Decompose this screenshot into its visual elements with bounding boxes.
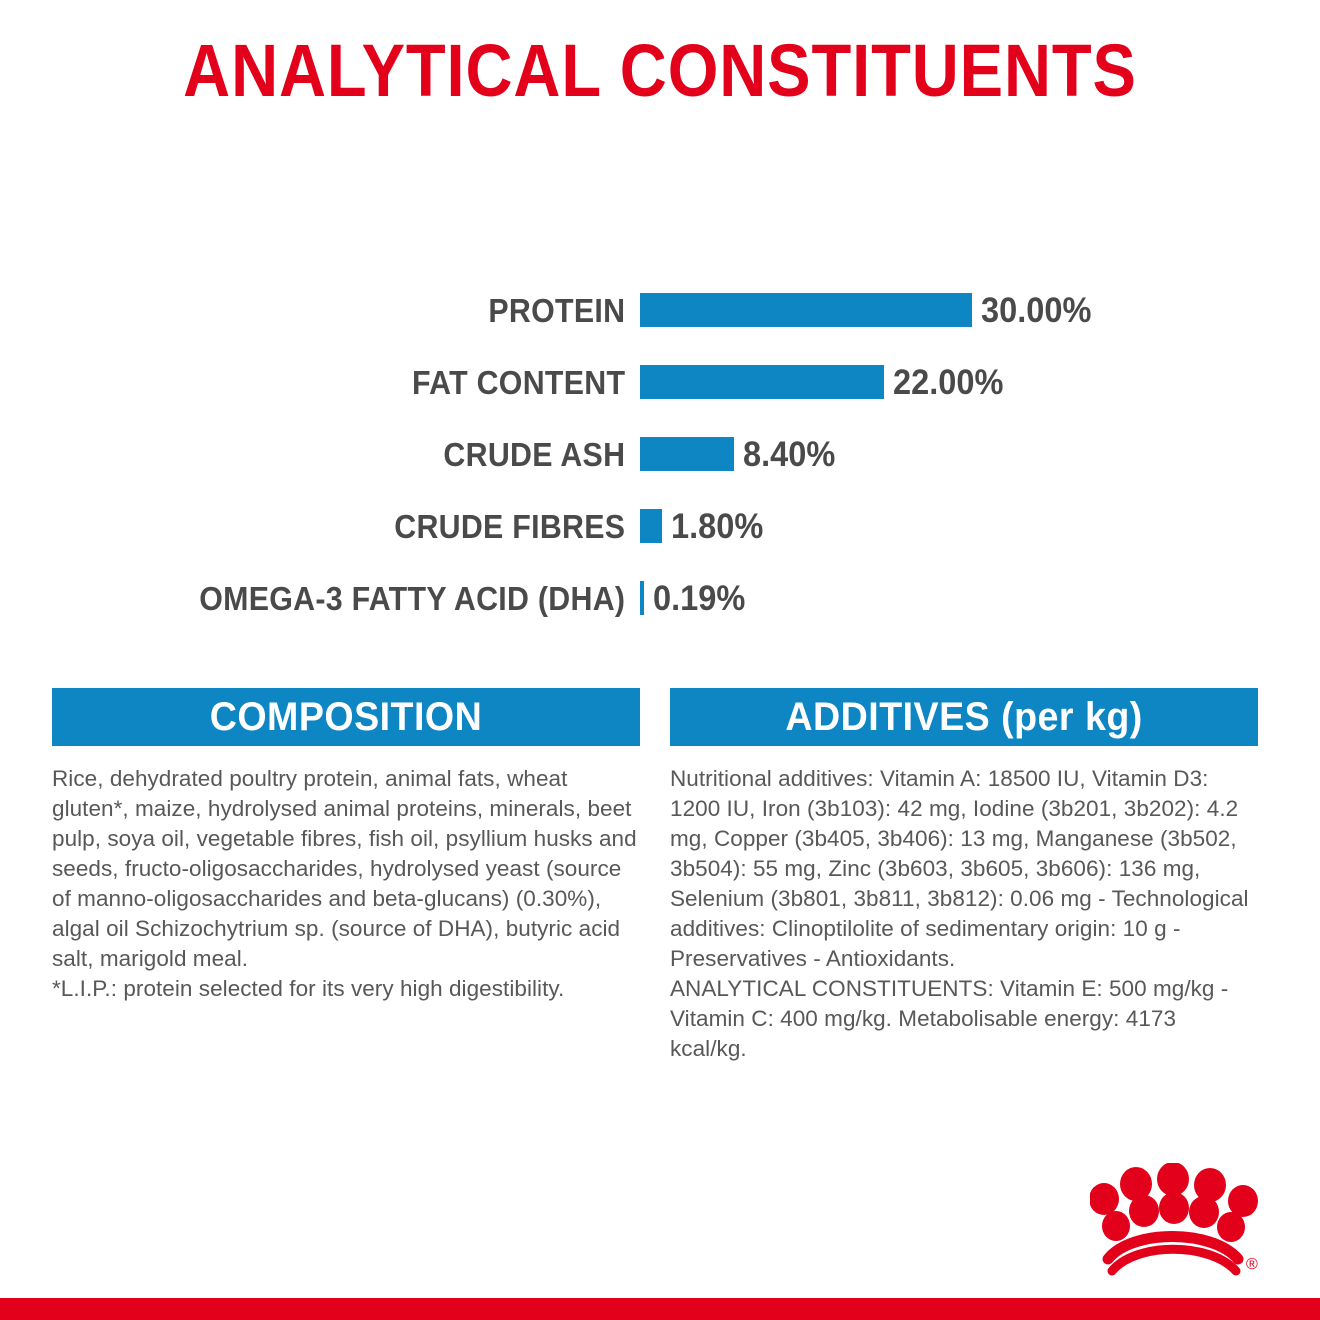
chart-label-omega-3-fatty-acid-dha: OMEGA-3 FATTY ACID (DHA) — [51, 582, 640, 615]
bar-value-protein: 30.00% — [981, 293, 1091, 328]
page-title: ANALYTICAL CONSTITUENTS — [79, 34, 1241, 108]
additives-header: ADDITIVES (per kg) — [670, 688, 1258, 746]
bottom-red-bar — [0, 1298, 1320, 1320]
chart-label-crude-fibres: CRUDE FIBRES — [51, 510, 640, 543]
crown-icon: ® — [1090, 1163, 1270, 1285]
bar-protein — [640, 293, 972, 327]
info-columns: COMPOSITION Rice, dehydrated poultry pro… — [52, 688, 1270, 1064]
bar-wrap-fat-content: 22.00% — [640, 365, 1320, 400]
additives-body: Nutritional additives: Vitamin A: 18500 … — [670, 746, 1258, 1064]
bar-value-crude-fibres: 1.80% — [671, 509, 763, 544]
additives-column: ADDITIVES (per kg) Nutritional additives… — [670, 688, 1258, 1064]
chart-row-fat-content: FAT CONTENT 22.00% — [0, 358, 1320, 406]
crown-arc-inner — [1112, 1249, 1236, 1271]
additives-footnote: ANALYTICAL CONSTITUENTS: Vitamin E: 500 … — [670, 974, 1258, 1064]
composition-body-text: Rice, dehydrated poultry protein, animal… — [52, 764, 640, 974]
bar-wrap-protein: 30.00% — [640, 293, 1320, 328]
bar-value-fat-content: 22.00% — [893, 365, 1003, 400]
chart-row-crude-ash: CRUDE ASH 8.40% — [0, 430, 1320, 478]
chart-label-fat-content: FAT CONTENT — [51, 366, 640, 399]
additives-body-text: Nutritional additives: Vitamin A: 18500 … — [670, 764, 1258, 974]
chart-row-protein: PROTEIN 30.00% — [0, 286, 1320, 334]
chart-row-omega-3-fatty-acid-dha: OMEGA-3 FATTY ACID (DHA) 0.19% — [0, 574, 1320, 622]
analytical-constituents-chart: PROTEIN 30.00% FAT CONTENT 22.00% CRUDE … — [0, 286, 1320, 646]
composition-column: COMPOSITION Rice, dehydrated poultry pro… — [52, 688, 640, 1064]
chart-label-crude-ash: CRUDE ASH — [51, 438, 640, 471]
composition-body: Rice, dehydrated poultry protein, animal… — [52, 746, 640, 1004]
bar-wrap-crude-fibres: 1.80% — [640, 509, 1320, 544]
bar-crude-ash — [640, 437, 734, 471]
registered-trademark-mark: ® — [1246, 1256, 1258, 1273]
chart-label-protein: PROTEIN — [51, 294, 640, 327]
bar-wrap-omega-3-fatty-acid-dha: 0.19% — [640, 581, 1320, 616]
bar-fat-content — [640, 365, 884, 399]
composition-header-label: COMPOSITION — [210, 697, 483, 737]
additives-header-label: ADDITIVES (per kg) — [785, 697, 1142, 737]
bar-value-crude-ash: 8.40% — [743, 437, 835, 472]
bar-crude-fibres — [640, 509, 662, 543]
bar-omega-3-fatty-acid-dha — [640, 581, 644, 615]
composition-header: COMPOSITION — [52, 688, 640, 746]
bar-value-omega-3-fatty-acid-dha: 0.19% — [653, 581, 745, 616]
chart-row-crude-fibres: CRUDE FIBRES 1.80% — [0, 502, 1320, 550]
royal-canin-crown-logo: ® — [1090, 1163, 1270, 1285]
composition-footnote: *L.I.P.: protein selected for its very h… — [52, 974, 640, 1004]
bar-wrap-crude-ash: 8.40% — [640, 437, 1320, 472]
